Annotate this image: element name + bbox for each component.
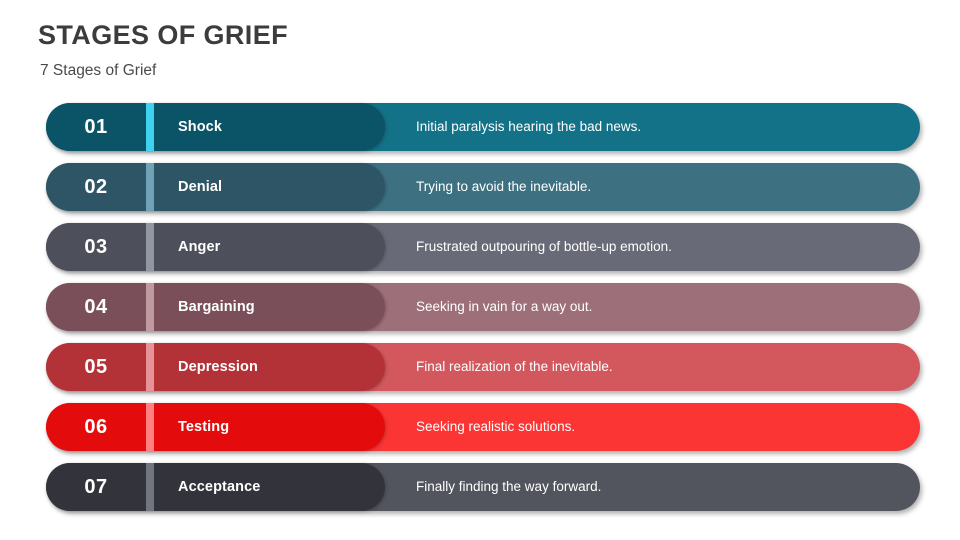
stage-label: Acceptance [154,479,260,495]
stage-pill-04: 04 Bargaining [46,283,385,331]
stage-description: Final realization of the inevitable. [416,343,613,391]
stage-row-06[interactable]: 06 Testing Seeking realistic solutions. [46,403,920,451]
stage-number: 06 [46,416,146,439]
stage-pill-01: 01 Shock [46,103,385,151]
page-title: STAGES OF GRIEF [38,18,918,52]
stage-number: 07 [46,476,146,499]
slide-canvas: STAGES OF GRIEF 7 Stages of Grief 01 Sho… [0,0,960,540]
stage-accent-bar [146,103,154,151]
stage-pill-07: 07 Acceptance [46,463,385,511]
stage-pill-03: 03 Anger [46,223,385,271]
stage-list: 01 Shock Initial paralysis hearing the b… [46,103,920,511]
stage-row-07[interactable]: 07 Acceptance Finally finding the way fo… [46,463,920,511]
stage-accent-bar [146,343,154,391]
stage-label: Anger [154,239,220,255]
slide-header: STAGES OF GRIEF 7 Stages of Grief [38,18,918,82]
stage-row-05[interactable]: 05 Depression Final realization of the i… [46,343,920,391]
stage-description: Trying to avoid the inevitable. [416,163,591,211]
stage-accent-bar [146,283,154,331]
stage-number: 05 [46,356,146,379]
stage-accent-bar [146,403,154,451]
stage-description: Initial paralysis hearing the bad news. [416,103,641,151]
stage-accent-bar [146,463,154,511]
stage-number: 04 [46,296,146,319]
stage-label: Bargaining [154,299,255,315]
stage-row-02[interactable]: 02 Denial Trying to avoid the inevitable… [46,163,920,211]
stage-row-04[interactable]: 04 Bargaining Seeking in vain for a way … [46,283,920,331]
stage-label: Depression [154,359,258,375]
stage-label: Testing [154,419,229,435]
stage-row-03[interactable]: 03 Anger Frustrated outpouring of bottle… [46,223,920,271]
stage-pill-02: 02 Denial [46,163,385,211]
stage-pill-05: 05 Depression [46,343,385,391]
stage-description: Seeking realistic solutions. [416,403,575,451]
stage-description: Finally finding the way forward. [416,463,601,511]
stage-description: Frustrated outpouring of bottle-up emoti… [416,223,672,271]
stage-accent-bar [146,223,154,271]
stage-label: Shock [154,119,222,135]
page-subtitle: 7 Stages of Grief [40,60,918,82]
stage-pill-06: 06 Testing [46,403,385,451]
stage-number: 02 [46,176,146,199]
stage-label: Denial [154,179,222,195]
stage-number: 01 [46,116,146,139]
stage-description: Seeking in vain for a way out. [416,283,592,331]
stage-number: 03 [46,236,146,259]
stage-row-01[interactable]: 01 Shock Initial paralysis hearing the b… [46,103,920,151]
stage-accent-bar [146,163,154,211]
